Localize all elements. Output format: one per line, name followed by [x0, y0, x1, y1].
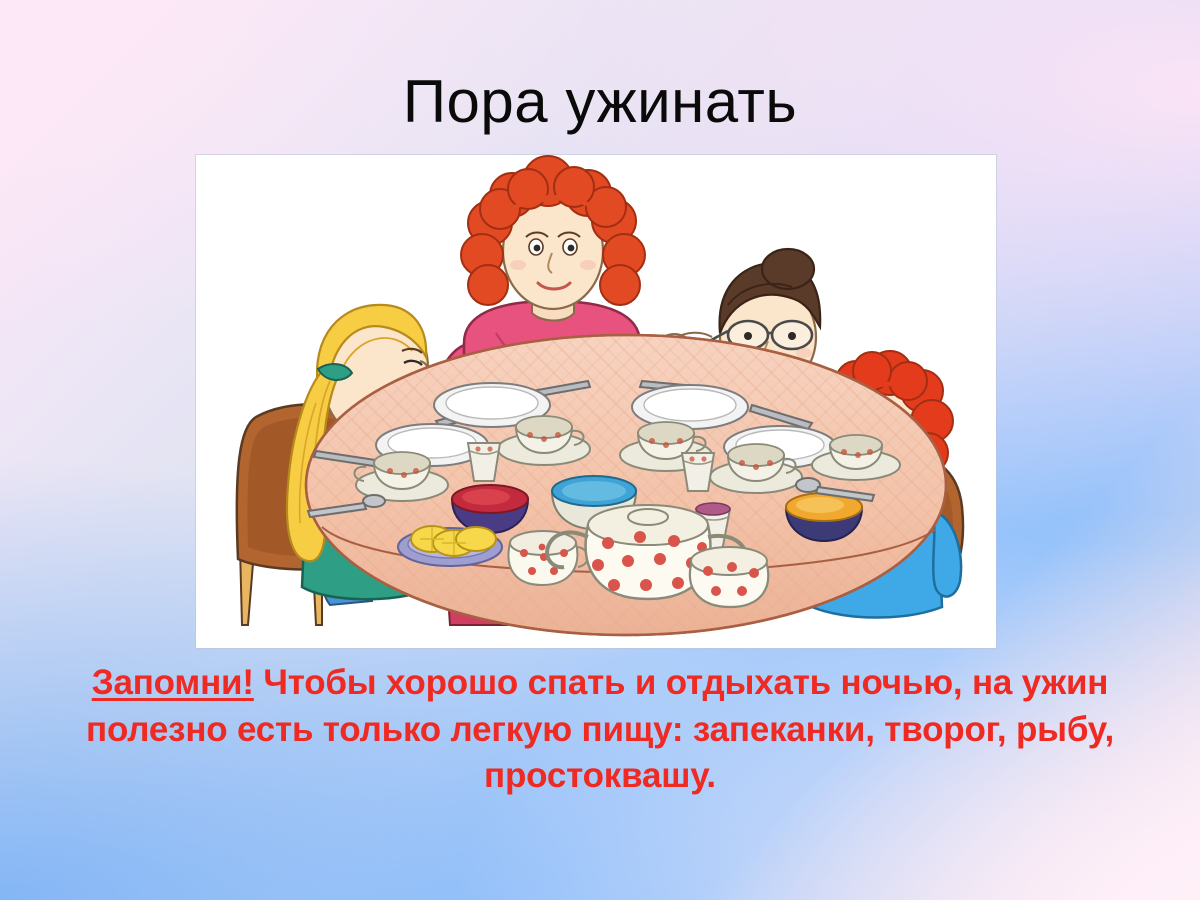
- slide-canvas: Пора ужинать: [0, 0, 1200, 900]
- page-title: Пора ужинать: [0, 72, 1200, 132]
- family-dinner-illustration: [196, 155, 996, 648]
- polka-dot-sugar-bowl: [690, 547, 768, 607]
- caption-text: Запомни! Чтобы хорошо спать и отдыхать н…: [60, 660, 1140, 800]
- illustration-frame: [196, 155, 996, 648]
- lemon-slices-on-dish: [398, 526, 502, 566]
- caption-lead: Запомни!: [92, 663, 254, 702]
- dining-table: [306, 335, 946, 635]
